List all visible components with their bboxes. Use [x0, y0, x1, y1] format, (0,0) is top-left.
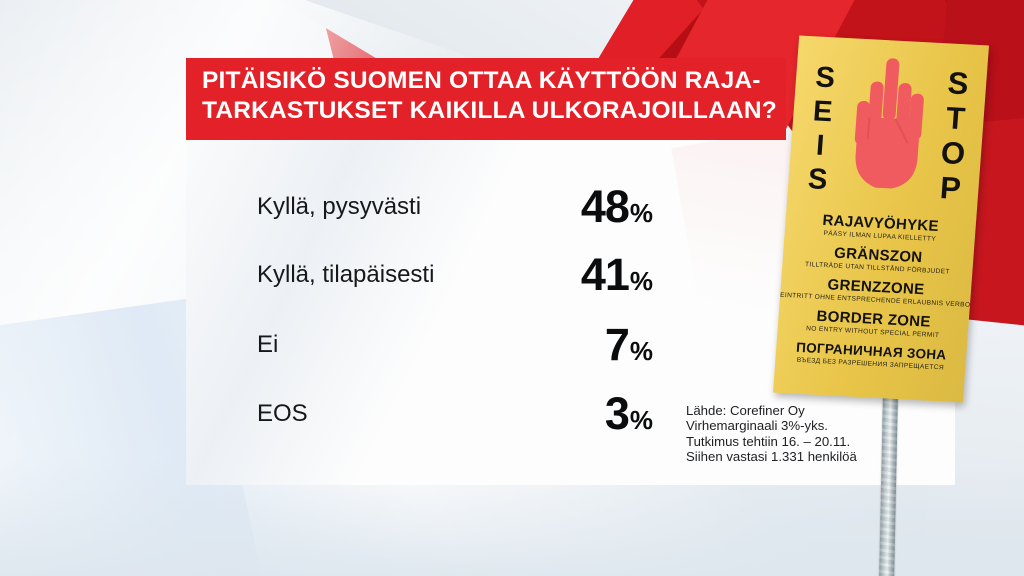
sign-text-block: RAJAVYÖHYKE PÄÄSY ILMAN LUPAA KIELLETTY …	[775, 210, 976, 380]
result-number: 3	[605, 388, 629, 439]
sign-post	[878, 368, 898, 576]
percent-symbol: %	[630, 198, 653, 228]
infographic-stage: 48% Kyllä, pysyvästi 41% Kyllä, tilapäis…	[0, 0, 1024, 576]
list-item: 48% Kyllä, pysyvästi	[186, 183, 666, 231]
sign-seis-char-1: S	[805, 60, 845, 96]
sign-stop-char-3: O	[932, 135, 975, 172]
sign-stop-char-1: S	[937, 65, 980, 102]
result-label: Ei	[257, 321, 278, 369]
title-banner: PITÄISIKÖ SUOMEN OTTAA KÄYTTÖÖN RAJA- TA…	[186, 58, 786, 140]
percent-symbol: %	[630, 405, 653, 435]
result-number: 41	[581, 249, 629, 300]
page-title: PITÄISIKÖ SUOMEN OTTAA KÄYTTÖÖN RAJA- TA…	[202, 66, 782, 126]
sign-stop-char-4: P	[929, 170, 972, 207]
percent-symbol: %	[630, 266, 653, 296]
stop-hand-icon	[848, 55, 930, 198]
sign-stop-char-2: T	[934, 100, 977, 137]
result-label: EOS	[257, 390, 308, 438]
border-zone-sign: S E I S S T O P	[774, 28, 989, 576]
sign-seis-char-2: E	[802, 94, 842, 130]
list-item: 41% Kyllä, tilapäisesti	[186, 251, 666, 299]
title-line-1: PITÄISIKÖ SUOMEN OTTAA KÄYTTÖÖN RAJA-	[202, 66, 782, 96]
sign-seis-char-3: I	[800, 128, 840, 164]
result-number: 48	[581, 181, 629, 232]
sign-board: S E I S S T O P	[773, 36, 989, 403]
list-item: 7% Ei	[186, 321, 666, 369]
result-label: Kyllä, tilapäisesti	[257, 251, 434, 299]
title-line-2: TARKASTUKSET KAIKILLA ULKORAJOILLAAN?	[202, 96, 782, 126]
result-number: 7	[605, 319, 629, 370]
sign-seis-char-4: S	[797, 162, 837, 198]
sign-post-texture	[878, 368, 898, 576]
result-label: Kyllä, pysyvästi	[257, 183, 421, 231]
percent-symbol: %	[630, 336, 653, 366]
list-item: 3% EOS	[186, 390, 666, 438]
